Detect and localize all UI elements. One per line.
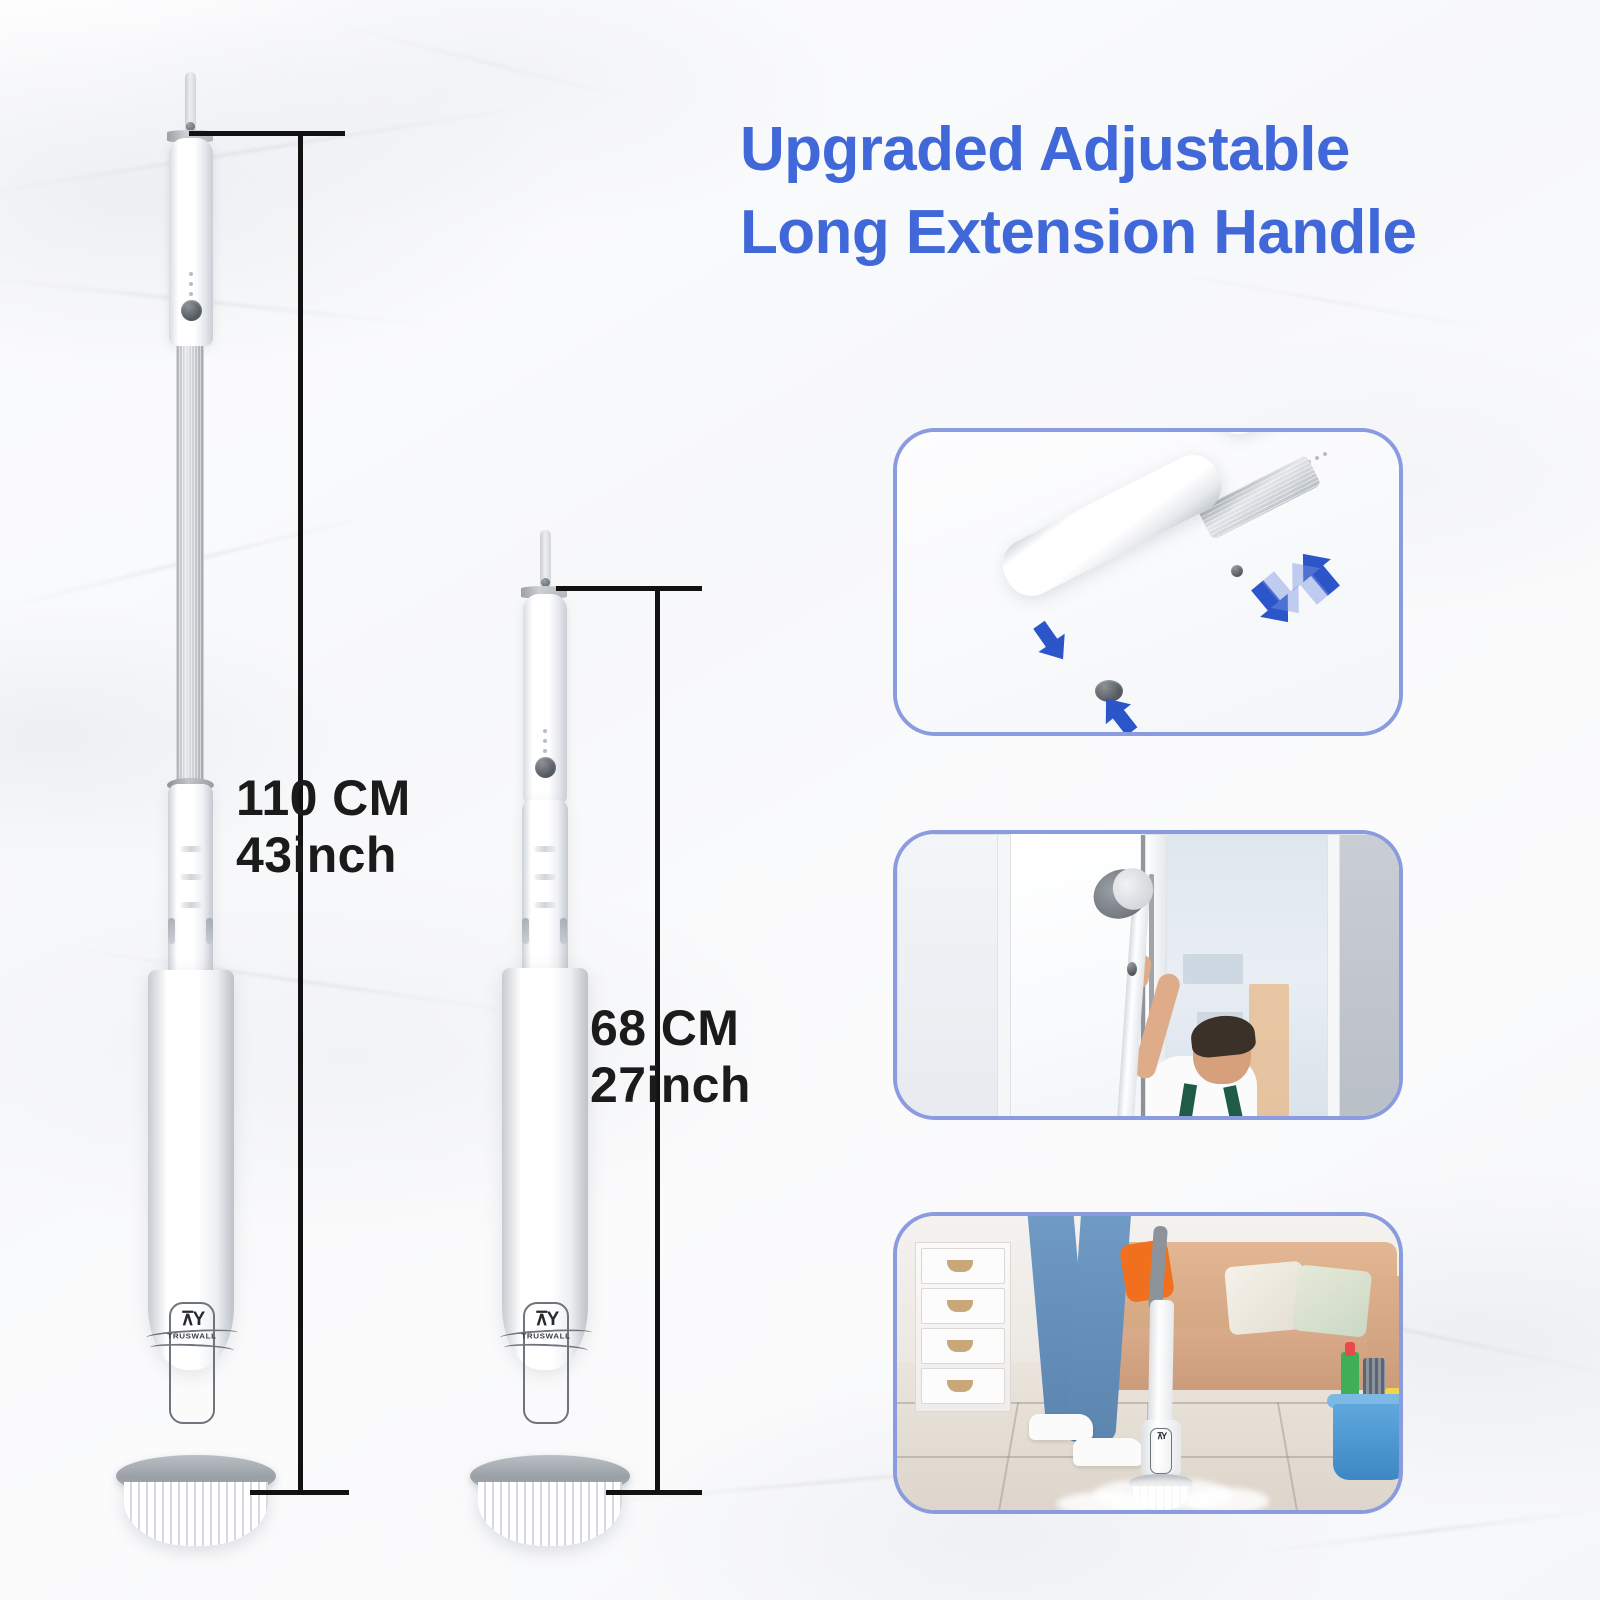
- brand-logo-icon: ⊼Υ: [535, 1310, 558, 1329]
- wall-left: [897, 834, 1005, 1120]
- person-glove: [1119, 1239, 1175, 1304]
- brand-badge: ⊼Υ TRUSWALL: [523, 1302, 569, 1424]
- headline-line-1: Upgraded Adjustable: [740, 115, 1350, 184]
- dimension-label-2: 68 CM 27inch: [590, 1000, 751, 1114]
- led-indicator: [543, 729, 547, 733]
- person-shoe: [1073, 1438, 1143, 1466]
- led-indicator: [189, 272, 193, 276]
- page-title: Upgraded Adjustable Long Extension Handl…: [740, 108, 1560, 274]
- person-shoe: [1029, 1414, 1093, 1440]
- grip-ridge: [534, 846, 556, 852]
- scrubber-body: [1148, 1300, 1174, 1430]
- dimension-tick-top-1: [189, 131, 345, 136]
- grip-ridge: [180, 874, 202, 880]
- dimension-inch-2: 27inch: [590, 1057, 751, 1114]
- side-notch: [168, 918, 175, 944]
- outside-building: [1183, 954, 1243, 984]
- wall-right: [1339, 834, 1403, 1120]
- brand-name: TRUSWALL: [167, 1332, 216, 1340]
- grip-ridge: [180, 846, 202, 852]
- soap-suds: [1185, 1488, 1269, 1514]
- headline-line-2: Long Extension Handle: [740, 191, 1560, 274]
- brand-logo-icon: ⊼Υ: [1157, 1432, 1166, 1441]
- brand-logo-icon: ⊼Υ: [181, 1310, 204, 1329]
- soap-suds: [1057, 1492, 1153, 1514]
- body-tube: [522, 800, 568, 972]
- side-notch: [560, 918, 567, 944]
- spray-bottle: [1341, 1352, 1359, 1400]
- led-indicator: [543, 739, 547, 743]
- dimension-tick-bottom-1: [250, 1490, 349, 1495]
- pole-button: [1127, 962, 1137, 976]
- led-indicator: [189, 282, 193, 286]
- arrow-press-button-icon: [1093, 690, 1145, 736]
- dimension-label-1: 110 CM 43inch: [236, 770, 411, 884]
- dimension-tick-bottom-2: [606, 1490, 702, 1495]
- dimension-tick-top-2: [556, 586, 702, 591]
- arrow-press-left-icon: [1025, 617, 1077, 667]
- brand-badge: ⊼Υ TRUSWALL: [169, 1302, 215, 1424]
- window-cleaning-panel: [893, 830, 1403, 1120]
- spray-bottle-cap: [1345, 1342, 1355, 1356]
- telescoping-mechanism-panel: [893, 428, 1403, 736]
- dimension-cm-1: 110 CM: [236, 770, 411, 827]
- cleaning-bucket: [1333, 1404, 1403, 1480]
- dimension-inch-1: 43inch: [236, 827, 411, 884]
- led-indicator: [189, 292, 193, 296]
- led-indicator: [1323, 452, 1327, 456]
- sofa-pillow: [1292, 1264, 1372, 1337]
- side-notch: [206, 918, 213, 944]
- grip-ridge: [534, 902, 556, 908]
- window-mullion: [997, 834, 1011, 1120]
- led-indicator: [1315, 456, 1319, 460]
- arrow-down-left-icon: [1242, 574, 1302, 632]
- brand-name: TRUSWALL: [521, 1332, 570, 1340]
- floor-cleaning-panel: ⊼Υ: [893, 1212, 1403, 1514]
- led-indicator: [543, 749, 547, 753]
- dimension-cm-2: 68 CM: [590, 1000, 751, 1057]
- telescoping-metal-shaft: [176, 346, 204, 786]
- grip-ridge: [534, 874, 556, 880]
- grip-ridge: [180, 902, 202, 908]
- side-notch: [522, 918, 529, 944]
- power-button[interactable]: [535, 757, 556, 778]
- power-button[interactable]: [181, 300, 202, 321]
- brand-badge: ⊼Υ: [1150, 1428, 1172, 1474]
